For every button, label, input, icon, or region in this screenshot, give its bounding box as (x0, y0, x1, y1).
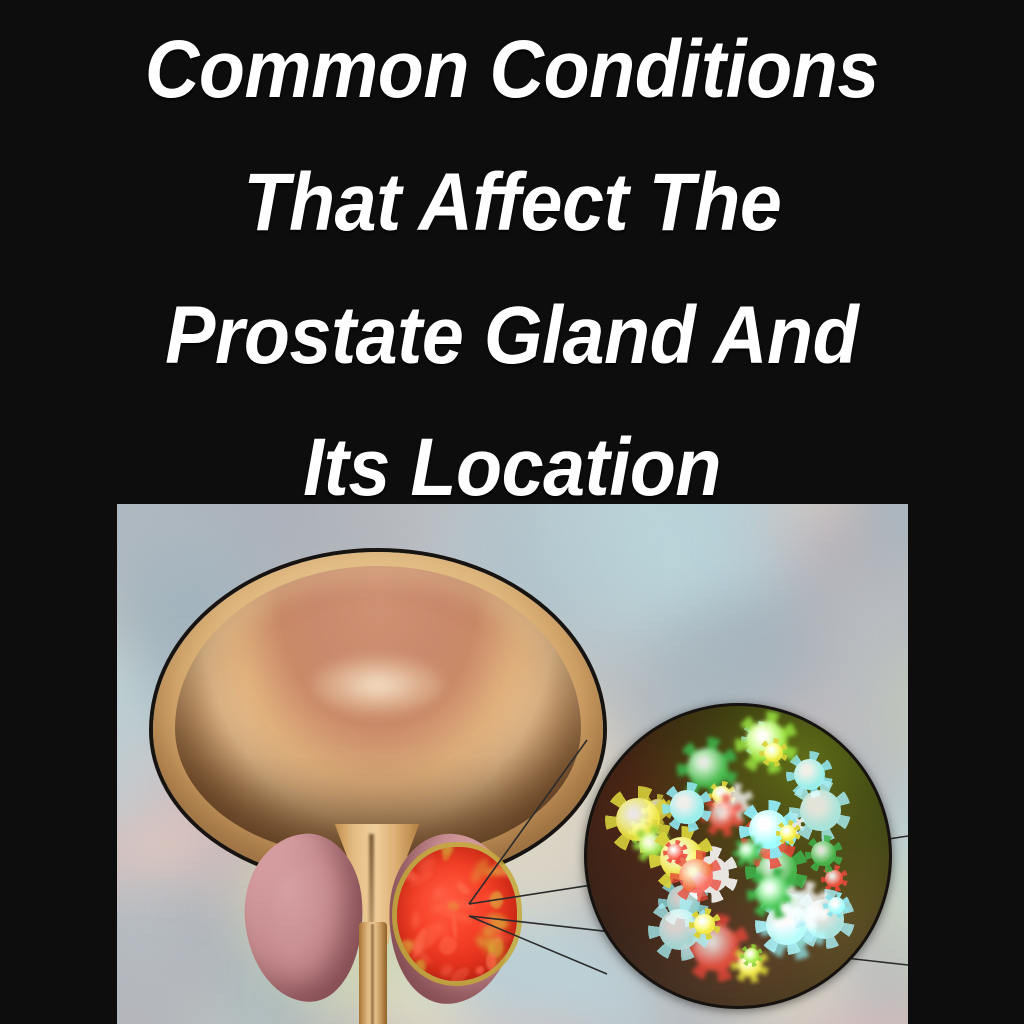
title-line-2: That Affect The (243, 137, 781, 270)
microbe-particle (800, 790, 841, 831)
prostate-tumor (397, 847, 517, 981)
microbe-particle (670, 790, 703, 823)
microbe-particle (679, 859, 713, 893)
poster-title: Common Conditions That Affect The Prosta… (0, 0, 1024, 500)
poster-canvas: Common Conditions That Affect The Prosta… (0, 0, 1024, 1024)
microbe-particle (709, 802, 737, 830)
bladder-highlight (313, 656, 443, 714)
microbe-particle (828, 897, 845, 914)
magnified-inset (584, 703, 892, 1009)
title-line-1: Common Conditions (145, 4, 879, 137)
microbe-particle (789, 890, 821, 922)
medical-illustration (117, 504, 908, 1024)
microbe-particle (694, 914, 715, 935)
title-line-3: Prostate Gland And (165, 270, 858, 403)
microbe-particle (738, 842, 758, 862)
microbe-particle (744, 948, 759, 963)
microbe-particle (764, 743, 783, 762)
urethra-lumen (371, 924, 374, 1024)
microbe-particle (811, 841, 836, 866)
